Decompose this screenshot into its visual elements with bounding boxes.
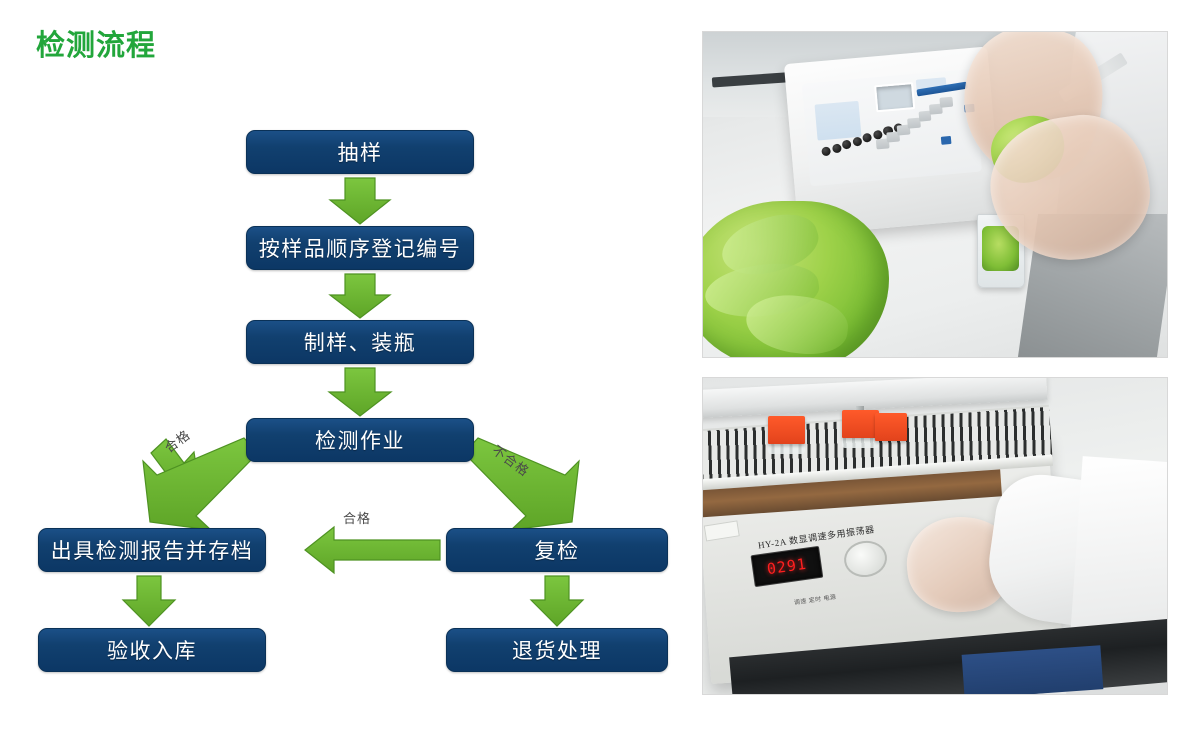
blue-cabinet — [961, 645, 1103, 695]
instrument-knob — [821, 146, 831, 156]
flow-node-accept-into-warehouse[interactable]: 验收入库 — [38, 628, 266, 672]
photo-sample-preparation-scene — [703, 32, 1167, 357]
instrument-blue-tab — [941, 135, 952, 144]
arrow-testing-to-recheck-body — [464, 438, 579, 530]
oscillator-control-caption: 调速 定时 电源 — [793, 592, 836, 607]
instrument-knob — [852, 136, 862, 146]
flowchart-arrow-layer — [0, 0, 700, 733]
instrument-cuvette-slots — [873, 94, 964, 161]
arrow-report-to-accept — [123, 576, 175, 626]
arrow-testing-to-report-body — [143, 438, 258, 530]
edge-label-pass-left: 合格 — [160, 425, 194, 457]
flow-node-prepare-and-bottle[interactable]: 制样、装瓶 — [246, 320, 474, 364]
sample-vial-red-cap — [875, 413, 907, 441]
edge-label-fail-right: 不合格 — [489, 440, 534, 480]
instrument-knob — [863, 133, 873, 143]
photo-oscillator-scene: HY-2A 数显调速多用振荡器 0291 调速 定时 电源 — [703, 378, 1167, 694]
flow-node-sampling[interactable]: 抽样 — [246, 130, 474, 174]
photo-oscillator-operation: HY-2A 数显调速多用振荡器 0291 调速 定时 电源 — [702, 377, 1168, 695]
arrow-prepare-to-testing — [329, 368, 391, 416]
flow-node-testing-operation[interactable]: 检测作业 — [246, 418, 474, 462]
oscillator-speed-knob[interactable] — [842, 538, 889, 579]
lettuce-leaf — [743, 290, 851, 358]
flow-node-return-handling[interactable]: 退货处理 — [446, 628, 668, 672]
instrument-knob — [832, 143, 842, 153]
oscillator-display-value: 0291 — [766, 555, 808, 578]
arrow-recheck-to-report — [305, 527, 440, 573]
cuvette-slot — [939, 96, 953, 107]
lettuce-head — [702, 201, 889, 358]
oscillator-sticker — [703, 521, 739, 542]
photo-sample-preparation — [702, 31, 1168, 358]
arrow-recheck-to-return — [531, 576, 583, 626]
flow-node-issue-report-and-archive[interactable]: 出具检测报告并存档 — [38, 528, 266, 572]
arrow-sampling-to-register — [330, 178, 390, 224]
oscillator-led-display: 0291 — [751, 546, 824, 587]
edge-label-pass-center: 合格 — [343, 508, 371, 527]
flow-node-recheck[interactable]: 复检 — [446, 528, 668, 572]
instrument-knob — [842, 140, 852, 150]
sample-vial-red-cap — [842, 410, 879, 438]
sample-vial-red-cap — [768, 416, 805, 444]
arrow-register-to-prepare — [330, 274, 390, 318]
flow-node-register-by-sample-order[interactable]: 按样品顺序登记编号 — [246, 226, 474, 270]
inspection-process-flowchart: 抽样 按样品顺序登记编号 制样、装瓶 检测作业 出具检测报告并存档 复检 验收入… — [0, 0, 700, 733]
instrument-panel — [802, 68, 982, 186]
